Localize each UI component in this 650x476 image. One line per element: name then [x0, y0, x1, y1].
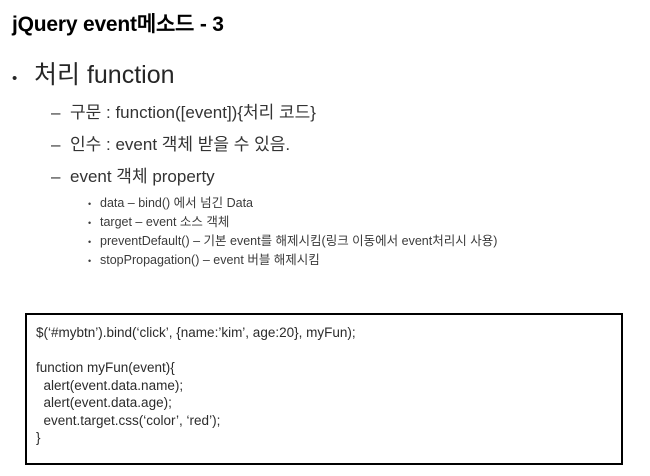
outline-item-level2-syntax: – 구문 : function([event]){처리 코드} — [51, 98, 650, 128]
outline-item-level3-preventdefault: • preventDefault() – 기본 event를 해제시킴(링크 이… — [88, 232, 650, 251]
outline-item-label: 인수 : event 객체 받을 수 있음. — [70, 130, 290, 160]
outline-item-level3-stoppropagation: • stopPropagation() – event 버블 해제시킴 — [88, 251, 650, 270]
bullet-dash-icon: – — [51, 98, 70, 128]
bullet-dash-icon: – — [51, 130, 70, 160]
page-title: jQuery event메소드 - 3 — [12, 8, 632, 38]
outline-item-level1: • 처리 function — [12, 56, 650, 94]
outline-item-label: event 객체 property — [70, 162, 215, 192]
bullet-dot-icon: • — [88, 252, 100, 271]
outline-item-level2-property: – event 객체 property — [51, 162, 650, 192]
bullet-dot-icon: • — [88, 195, 100, 214]
outline-item-label: stopPropagation() – event 버블 해제시킴 — [100, 251, 320, 270]
bullet-dot-icon: • — [88, 233, 100, 252]
code-block-text: $(‘#mybtn’).bind(‘click’, {name:’kim’, a… — [27, 315, 621, 447]
outline-item-label: preventDefault() – 기본 event를 해제시킴(링크 이동에… — [100, 232, 497, 251]
code-block: $(‘#mybtn’).bind(‘click’, {name:’kim’, a… — [25, 313, 623, 465]
slide: jQuery event메소드 - 3 • 처리 function – 구문 :… — [0, 0, 650, 476]
bullet-dash-icon: – — [51, 162, 70, 192]
outline-item-label: target – event 소스 객체 — [100, 213, 229, 232]
outline-item-label: 구문 : function([event]){처리 코드} — [70, 98, 316, 128]
outline-item-level3-data: • data – bind() 에서 넘긴 Data — [88, 194, 650, 213]
outline-item-label: 처리 function — [34, 56, 175, 94]
bullet-dot-icon: • — [12, 60, 34, 98]
bullet-dot-icon: • — [88, 214, 100, 233]
outline-body: • 처리 function – 구문 : function([event]){처… — [0, 56, 650, 270]
outline-item-label: data – bind() 에서 넘긴 Data — [100, 194, 253, 213]
outline-item-level3-target: • target – event 소스 객체 — [88, 213, 650, 232]
outline-item-level2-argument: – 인수 : event 객체 받을 수 있음. — [51, 130, 650, 160]
